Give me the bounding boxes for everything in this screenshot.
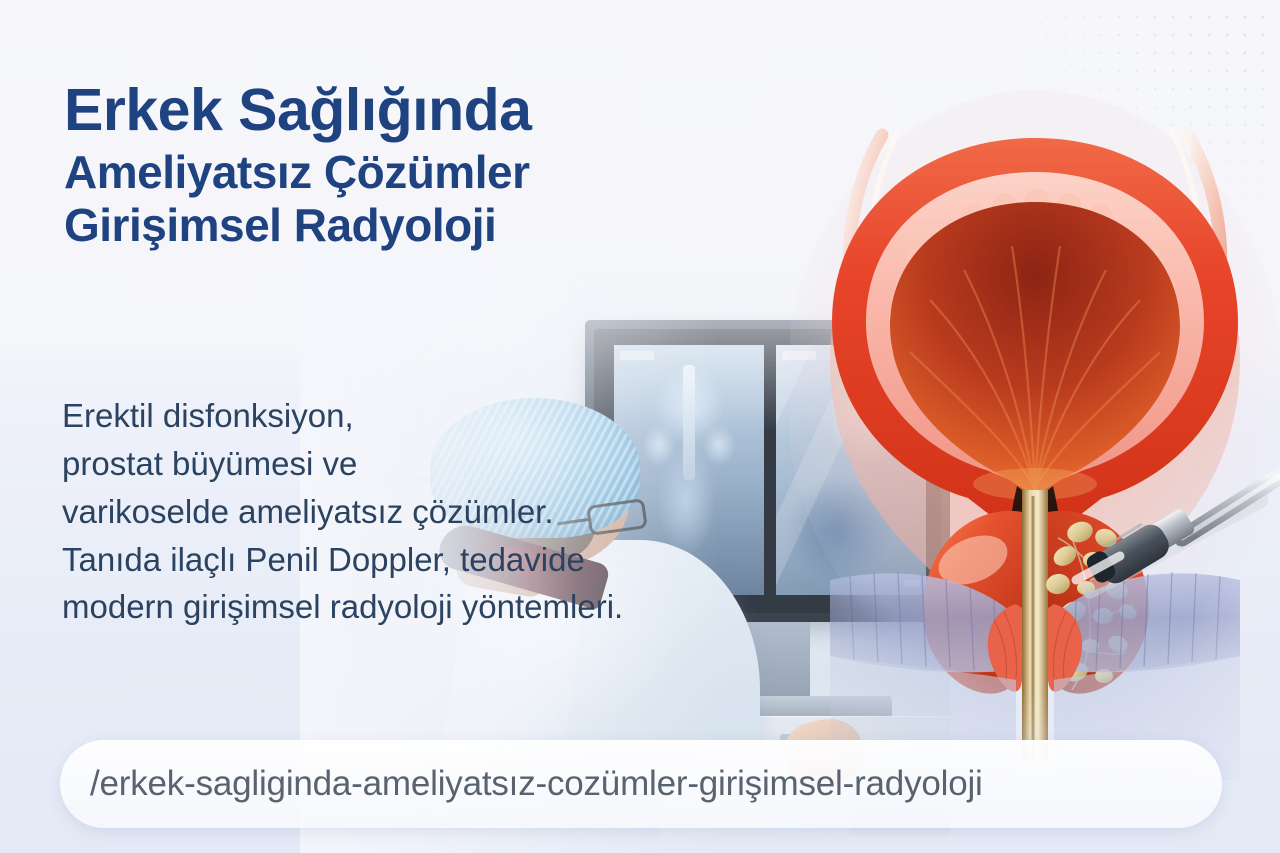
title-line-2: Ameliyatsız Çözümler: [64, 148, 764, 198]
title-line-1: Erkek Sağlığında: [64, 82, 764, 140]
banner-root: Erkek Sağlığında Ameliyatsız Çözümler Gi…: [0, 0, 1280, 853]
urethra: [1022, 490, 1048, 760]
description-text: Erektil disfonksiyon, prostat büyümesi v…: [62, 392, 762, 631]
medical-illustration-bladder-prostate: [790, 60, 1280, 780]
page-title: Erkek Sağlığında Ameliyatsız Çözümler Gi…: [64, 82, 764, 251]
url-pill[interactable]: /erkek-sagliginda-ameliyatsız-cozümler-g…: [60, 740, 1222, 828]
url-path-text: /erkek-sagliginda-ameliyatsız-cozümler-g…: [90, 764, 983, 804]
title-line-3: Girişimsel Radyoloji: [64, 201, 764, 251]
description-line-4: Tanıda ilaçlı Penil Doppler, tedavide: [62, 536, 762, 584]
description-line-2: prostat büyümesi ve: [62, 440, 762, 488]
screen-label-left: [620, 351, 654, 360]
description-line-1: Erektil disfonksiyon,: [62, 392, 762, 440]
description-line-3: varikoselde ameliyatsız çözümler.: [62, 488, 762, 536]
description-line-5: modern girişimsel radyoloji yöntemleri.: [62, 583, 762, 631]
